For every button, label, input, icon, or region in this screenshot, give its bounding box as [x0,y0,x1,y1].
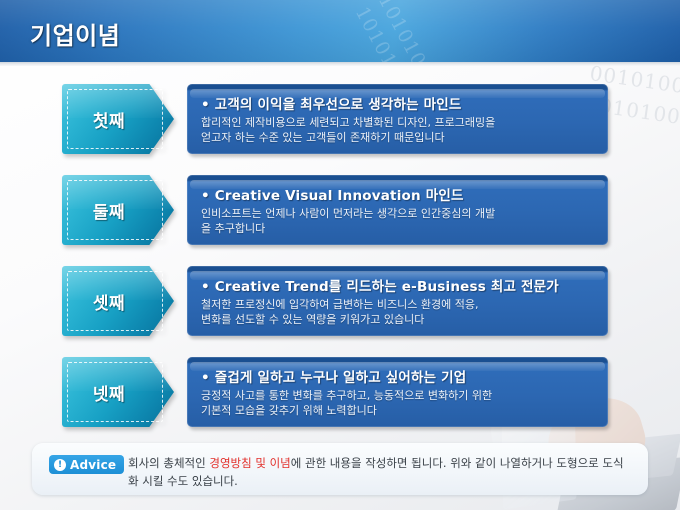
panel-description: 합리적인 제작비용으로 세련되고 차별화된 디자인, 프로그래밍을 얻고자 하는… [201,115,600,145]
advice-text-highlight: 경영방침 및 이념 [209,456,290,470]
content-panel-1[interactable]: • 고객의 이익을 최우선으로 생각하는 마인드 합리적인 제작비용으로 세련되… [187,84,608,154]
advice-panel: ! Advice 회사의 총체적인 경영방침 및 이념에 관한 내용을 작성하면… [32,443,648,495]
chevron-label-text: 첫째 [62,84,156,154]
advice-badge: ! Advice [49,455,124,474]
chevron-label-1[interactable]: 첫째 [62,84,174,154]
panel-body: • 즐겁게 일하고 누구나 일하고 싶어하는 기업 긍정적 사고를 통한 변화를… [201,366,600,418]
content-panel-3[interactable]: • Creative Trend를 리드하는 e-Business 최고 전문가… [187,266,608,336]
panel-description: 인비소프트는 언제나 사람이 먼저라는 생각으로 인간중심의 개발 을 추구합니… [201,206,600,236]
content-row-1[interactable]: 첫째 • 고객의 이익을 최우선으로 생각하는 마인드 합리적인 제작비용으로 … [62,84,608,154]
content-row-4[interactable]: 넷째 • 즐겁게 일하고 누구나 일하고 싶어하는 기업 긍정적 사고를 통한 … [62,357,608,427]
panel-body: • Creative Trend를 리드하는 e-Business 최고 전문가… [201,275,600,327]
panel-heading: • Creative Visual Innovation 마인드 [201,184,600,204]
panel-body: • Creative Visual Innovation 마인드 인비소프트는 … [201,184,600,236]
advice-text: 회사의 총체적인 경영방침 및 이념에 관한 내용을 작성하면 됩니다. 위와 … [128,454,628,490]
panel-body: • 고객의 이익을 최우선으로 생각하는 마인드 합리적인 제작비용으로 세련되… [201,93,600,145]
chevron-label-3[interactable]: 셋째 [62,266,174,336]
content-row-3[interactable]: 셋째 • Creative Trend를 리드하는 e-Business 최고 … [62,266,608,336]
chevron-label-text: 둘째 [62,175,156,245]
chevron-label-text: 넷째 [62,357,156,427]
content-panel-4[interactable]: • 즐겁게 일하고 누구나 일하고 싶어하는 기업 긍정적 사고를 통한 변화를… [187,357,608,427]
advice-text-before: 회사의 총체적인 [128,456,209,470]
exclamation-icon: ! [54,459,66,471]
chevron-label-4[interactable]: 넷째 [62,357,174,427]
content-rows: 첫째 • 고객의 이익을 최우선으로 생각하는 마인드 합리적인 제작비용으로 … [0,0,680,510]
panel-heading: • Creative Trend를 리드하는 e-Business 최고 전문가 [201,275,600,295]
content-row-2[interactable]: 둘째 • Creative Visual Innovation 마인드 인비소프… [62,175,608,245]
panel-description: 철저한 프로정신에 입각하여 급변하는 비즈니스 환경에 적응, 변화를 선도할… [201,297,600,327]
slide-canvas: 10101010101110011101 1010101011100111010… [0,0,680,510]
chevron-label-text: 셋째 [62,266,156,336]
content-panel-2[interactable]: • Creative Visual Innovation 마인드 인비소프트는 … [187,175,608,245]
panel-heading: • 고객의 이익을 최우선으로 생각하는 마인드 [201,93,600,113]
advice-badge-label: Advice [70,458,116,472]
panel-heading: • 즐겁게 일하고 누구나 일하고 싶어하는 기업 [201,366,600,386]
panel-description: 긍정적 사고를 통한 변화를 추구하고, 능동적으로 변화하기 위한 기본적 모… [201,388,600,418]
chevron-label-2[interactable]: 둘째 [62,175,174,245]
